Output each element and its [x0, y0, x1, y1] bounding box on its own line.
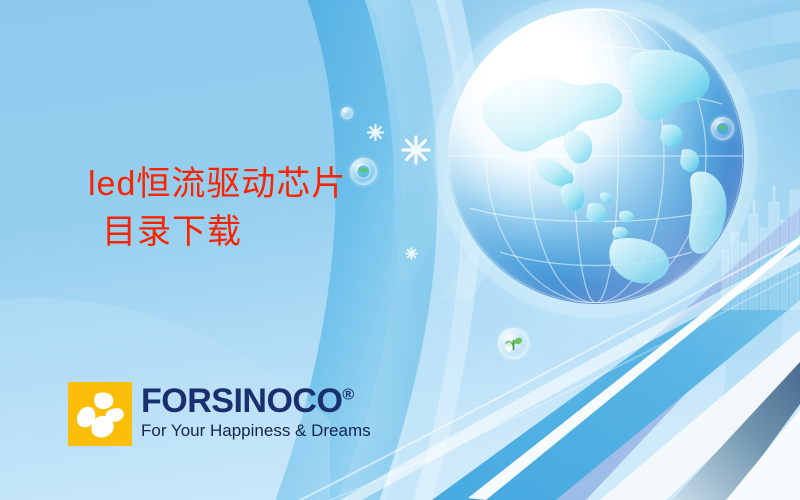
logo-tagline: For Your Happiness & Dreams	[141, 421, 371, 441]
logo-name-text: FORSINOCO	[141, 382, 342, 420]
registered-mark: ®	[342, 387, 353, 404]
poster-canvas: led恒流驱动芯片 目录下载 FORSINOCO® For Your Happ	[0, 0, 800, 500]
company-logo: FORSINOCO® For Your Happiness & Dreams	[68, 382, 371, 446]
headline-line-2: 目录下载	[88, 208, 428, 256]
starburst-icon	[367, 124, 384, 141]
bubble-small-icon	[341, 107, 353, 119]
logo-company-name: FORSINOCO®	[141, 384, 371, 418]
logo-wordmark: FORSINOCO® For Your Happiness & Dreams	[141, 382, 371, 441]
city-skyline-icon	[720, 180, 800, 310]
bubble-sprout-icon	[498, 328, 529, 359]
headline-line-1: led恒流驱动芯片	[88, 160, 428, 208]
bubble-globe-icon	[711, 117, 734, 140]
headline: led恒流驱动芯片 目录下载	[88, 160, 428, 257]
four-petal-flower-icon	[68, 382, 132, 446]
globe-icon	[448, 8, 744, 304]
globe-glass-rim	[434, 0, 758, 318]
